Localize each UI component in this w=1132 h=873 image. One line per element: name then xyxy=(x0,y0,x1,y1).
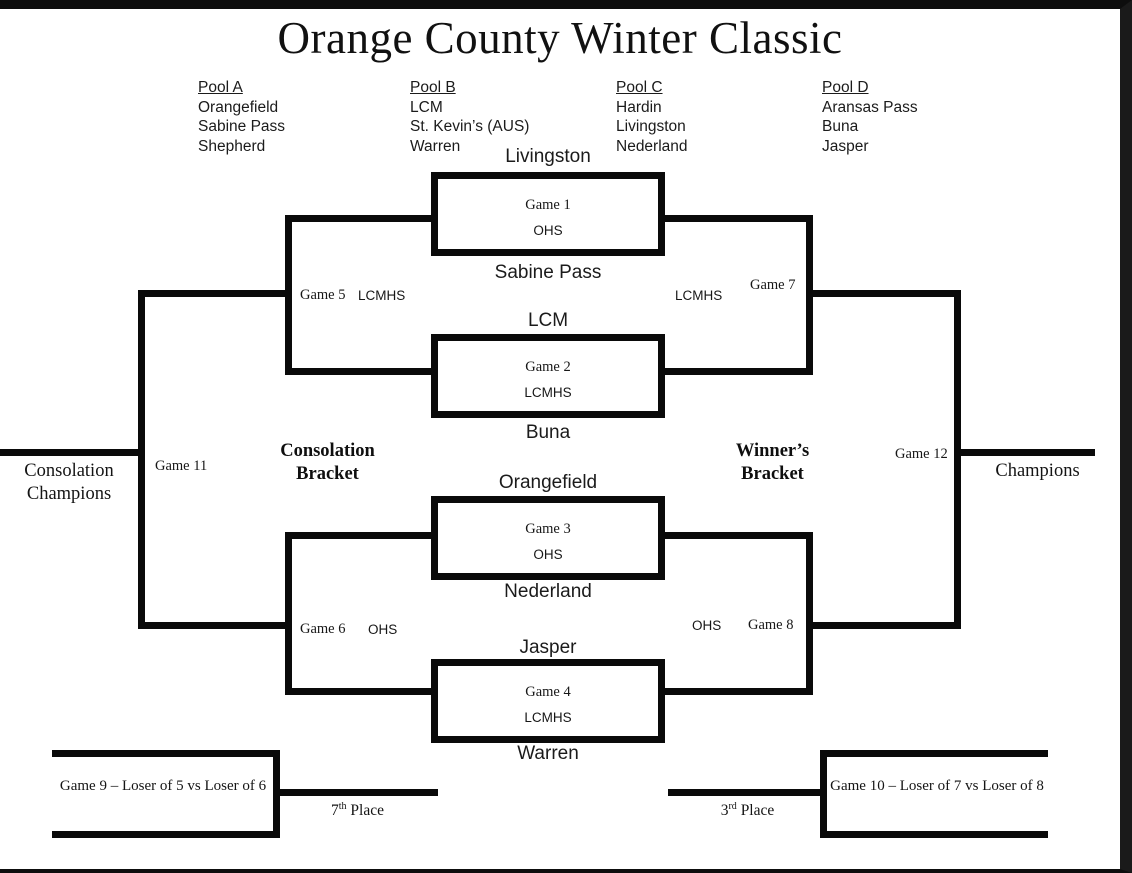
pool-a-team-1: Orangefield xyxy=(198,98,285,118)
pool-a-heading: Pool A xyxy=(198,78,285,98)
pool-b-heading: Pool B xyxy=(410,78,529,98)
bracket-canvas: Orange County Winter Classic Pool A Oran… xyxy=(0,0,1120,873)
game-10-label: Game 10 – Loser of 7 vs Loser of 8 xyxy=(826,778,1048,795)
pool-c: Pool C Hardin Livingston Nederland xyxy=(616,78,688,156)
seventh-place-suffix: th xyxy=(339,801,347,812)
g8-label: Game 8 xyxy=(748,617,794,634)
pool-d-team-1: Aransas Pass xyxy=(822,98,918,118)
pool-d-team-2: Buna xyxy=(822,117,918,137)
g4-bottom-team: Warren xyxy=(430,743,666,765)
pool-b-team-1: LCM xyxy=(410,98,529,118)
game-2-site: LCMHS xyxy=(438,385,658,400)
third-place-suffix: rd xyxy=(728,801,736,812)
g6-out-connector xyxy=(138,622,288,629)
consolation-champions-line-1: Consolation xyxy=(24,461,113,481)
g12-label: Game 12 xyxy=(895,446,948,463)
game-3-box[interactable]: Game 3 OHS xyxy=(431,496,665,580)
winners-bracket-line-2: Bracket xyxy=(741,464,804,484)
g5-label: Game 5 xyxy=(300,287,346,304)
g6-vertical xyxy=(285,532,292,695)
game-4-site: LCMHS xyxy=(438,710,658,725)
pool-a: Pool A Orangefield Sabine Pass Shepherd xyxy=(198,78,285,156)
g9-out-connector xyxy=(273,789,438,796)
consolation-bracket-line-2: Bracket xyxy=(296,464,359,484)
g6-bottom-connector xyxy=(285,688,435,695)
pool-a-team-3: Shepherd xyxy=(198,137,285,157)
g9-box-top xyxy=(52,750,280,757)
game-1-site: OHS xyxy=(438,223,658,238)
consolation-bracket-label: Consolation Bracket xyxy=(245,440,410,486)
g6-label: Game 6 xyxy=(300,621,346,638)
g12-out-connector xyxy=(954,449,1095,456)
game-1-label: Game 1 xyxy=(438,197,658,214)
pool-c-team-2: Livingston xyxy=(616,117,688,137)
pool-c-heading: Pool C xyxy=(616,78,688,98)
g1-top-team: Livingston xyxy=(430,146,666,168)
third-place-label: 3rd Place xyxy=(680,801,815,820)
pool-a-team-2: Sabine Pass xyxy=(198,117,285,137)
g4-top-team: Jasper xyxy=(430,637,666,659)
game-2-box[interactable]: Game 2 LCMHS xyxy=(431,334,665,418)
g5-bottom-connector xyxy=(285,368,435,375)
g7-out-connector xyxy=(806,290,956,297)
g5-site: LCMHS xyxy=(358,288,405,303)
consolation-bracket-line-1: Consolation xyxy=(280,441,375,461)
g8-out-connector xyxy=(806,622,956,629)
g8-bottom-connector xyxy=(665,688,813,695)
g3-bottom-team: Nederland xyxy=(430,581,666,603)
pool-b-team-2: St. Kevin’s (AUS) xyxy=(410,117,529,137)
champions-label: Champions xyxy=(955,460,1120,483)
g5-out-connector xyxy=(138,290,288,297)
pool-c-team-1: Hardin xyxy=(616,98,688,118)
g10-out-connector xyxy=(668,789,823,796)
g8-top-connector xyxy=(665,532,813,539)
game-3-label: Game 3 xyxy=(438,521,658,538)
g11-label: Game 11 xyxy=(155,458,207,475)
game-2-label: Game 2 xyxy=(438,359,658,376)
g8-vertical xyxy=(806,532,813,695)
pool-d-team-3: Jasper xyxy=(822,137,918,157)
game-4-label: Game 4 xyxy=(438,684,658,701)
pool-b: Pool B LCM St. Kevin’s (AUS) Warren xyxy=(410,78,529,156)
seventh-place-label: 7th Place xyxy=(290,801,425,820)
g11-vertical xyxy=(138,290,145,629)
pool-d-heading: Pool D xyxy=(822,78,918,98)
g11-out-connector xyxy=(0,449,139,456)
g2-top-team: LCM xyxy=(430,310,666,332)
g6-top-connector xyxy=(285,532,435,539)
g7-label: Game 7 xyxy=(750,277,796,294)
g10-box-bottom xyxy=(820,831,1048,838)
pool-d: Pool D Aransas Pass Buna Jasper xyxy=(822,78,918,156)
seventh-place-word: Place xyxy=(350,802,384,819)
g7-site: LCMHS xyxy=(675,288,722,303)
consolation-champions-label: Consolation Champions xyxy=(0,460,138,506)
game-9-label: Game 9 – Loser of 5 vs Loser of 6 xyxy=(52,778,274,795)
g8-site: OHS xyxy=(692,618,721,633)
g1-bottom-team: Sabine Pass xyxy=(430,262,666,284)
g6-site: OHS xyxy=(368,622,397,637)
game-4-box[interactable]: Game 4 LCMHS xyxy=(431,659,665,743)
third-place-word: Place xyxy=(741,802,775,819)
seventh-place-number: 7 xyxy=(331,802,339,819)
g2-bottom-team: Buna xyxy=(430,422,666,444)
g3-top-team: Orangefield xyxy=(430,472,666,494)
page-title: Orange County Winter Classic xyxy=(0,12,1120,64)
consolation-champions-line-2: Champions xyxy=(27,484,111,504)
winners-bracket-line-1: Winner’s xyxy=(736,441,809,461)
bracket-page: Orange County Winter Classic Pool A Oran… xyxy=(0,0,1132,873)
g7-bottom-connector xyxy=(665,368,813,375)
g5-top-connector xyxy=(285,215,435,222)
g10-box-top xyxy=(820,750,1048,757)
g9-box-bottom xyxy=(52,831,280,838)
winners-bracket-label: Winner’s Bracket xyxy=(690,440,855,486)
g7-top-connector xyxy=(665,215,813,222)
game-1-box[interactable]: Game 1 OHS xyxy=(431,172,665,256)
game-3-site: OHS xyxy=(438,547,658,562)
